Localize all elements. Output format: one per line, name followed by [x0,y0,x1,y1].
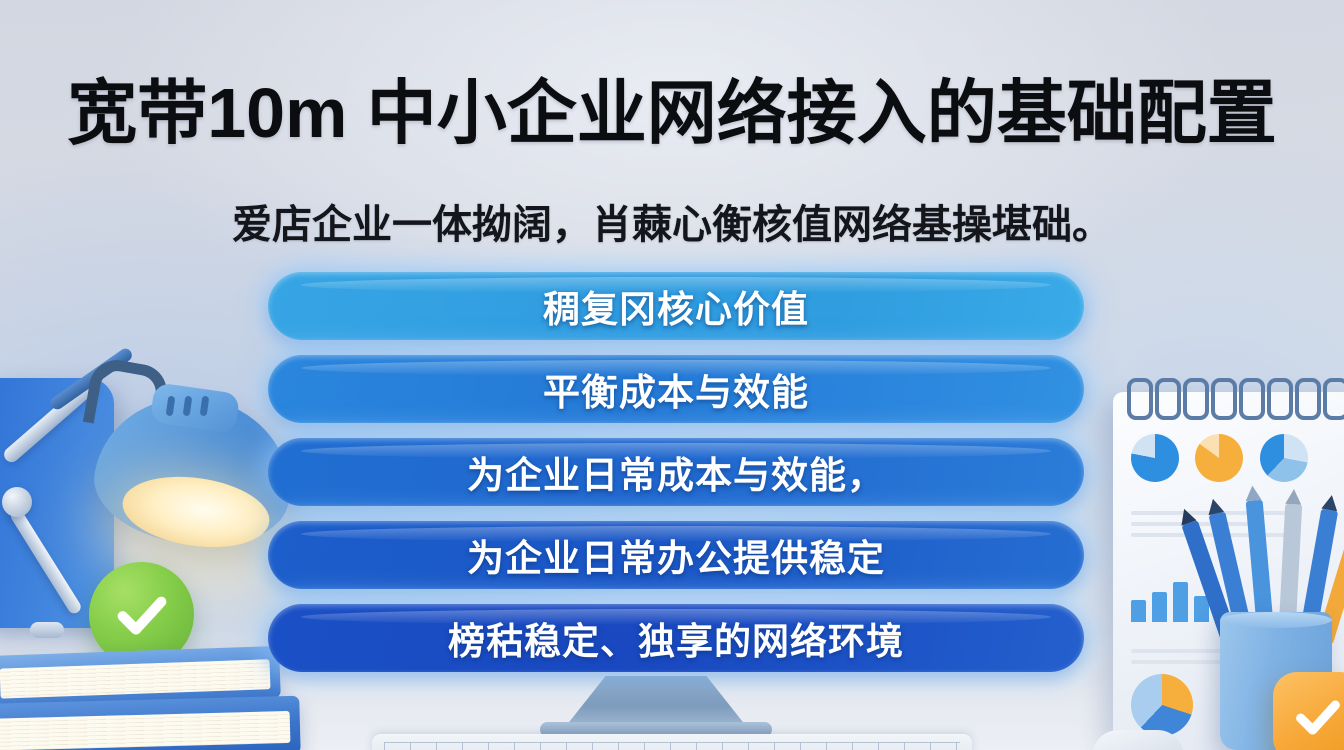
spiral-ring [1295,378,1321,420]
feature-pill[interactable]: 平衡成本与效能 [268,355,1084,423]
feature-pill[interactable]: 榜秙稳定、独享的网络环境 [268,604,1084,672]
spiral-ring [1127,378,1153,420]
pencil-tip [1321,494,1339,512]
spiral-ring [1267,378,1293,420]
feature-pill[interactable]: 稠复冈核心价值 [268,272,1084,340]
book-pages [0,711,290,750]
notepad-text-lines [1131,504,1344,544]
donut-chart-blue [1131,434,1179,482]
pencil-tip [1205,497,1224,515]
feature-pill-label: 稠复冈核心价值 [543,279,809,333]
feature-pill-list: 稠复冈核心价值 平衡成本与效能 为企业日常成本与效能， 为企业日常办公提供稳定 … [268,272,1084,687]
mouse [1092,730,1184,750]
pie-chart-small [1260,434,1308,482]
page-title: 宽带10m 中小企业网络接入的基础配置 [0,78,1344,149]
keyboard [372,734,972,750]
feature-pill[interactable]: 为企业日常成本与效能， [268,438,1084,506]
feature-pill-label: 为企业日常办公提供稳定 [467,528,885,582]
spiral-ring [1323,378,1344,420]
bar [1173,582,1188,622]
page-subtitle: 爱店企业一体拗阔，肖蕀心衡核值网络基操堪础。 [0,192,1344,250]
notepad-donut-row [1131,434,1344,487]
bar [1131,600,1146,622]
checkmark-icon [113,586,171,644]
feature-pill-label: 榜秙稳定、独享的网络环境 [448,611,904,665]
poster-canvas: 宽带10m 中小企业网络接入的基础配置 爱店企业一体拗阔，肖蕀心衡核值网络基操堪… [0,0,1344,750]
spiral-ring [1239,378,1265,420]
feature-pill-label: 为企业日常成本与效能， [467,445,885,499]
pencil-tip [1244,485,1261,501]
spiral-ring [1155,378,1181,420]
checkmark-icon [1292,691,1344,743]
donut-chart-orange [1195,434,1243,482]
keyboard-keys [384,742,960,750]
orange-check-badge [1273,672,1344,750]
pencil-tip [1285,489,1302,505]
bar [1152,592,1167,622]
book-bottom [0,696,301,750]
spiral-ring [1183,378,1209,420]
feature-pill[interactable]: 为企业日常办公提供稳定 [268,521,1084,589]
lamp-joint [2,487,32,517]
spiral-ring [1211,378,1237,420]
feature-pill-label: 平衡成本与效能 [543,362,809,416]
pie-chart-large [1131,674,1193,736]
book-pages [0,659,271,698]
lamp-foot [30,622,64,638]
